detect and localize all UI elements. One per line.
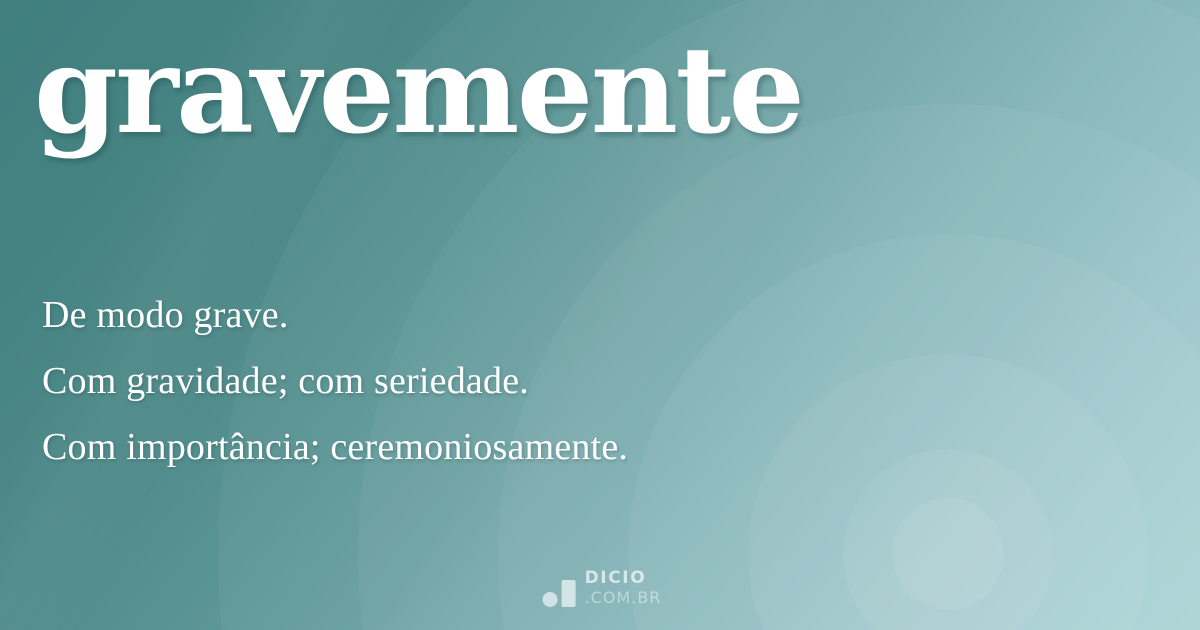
dicio-bar-icon bbox=[562, 580, 576, 607]
definition-line: Com importância; ceremoniosamente. bbox=[42, 414, 1142, 480]
definition-list: De modo grave. Com gravidade; com seried… bbox=[42, 282, 1142, 480]
page-title: gravemente bbox=[34, 18, 802, 164]
dicio-dot-icon bbox=[543, 592, 558, 607]
dicio-logo-name: DICIO bbox=[585, 570, 662, 587]
card-content: gravemente De modo grave. Com gravidade;… bbox=[0, 0, 1200, 630]
definition-card: gravemente De modo grave. Com gravidade;… bbox=[0, 0, 1200, 630]
dicio-logo-mark bbox=[539, 575, 576, 607]
definition-line: Com gravidade; com seriedade. bbox=[42, 348, 1142, 414]
dicio-logo[interactable]: DICIO .COM.BR bbox=[539, 570, 662, 607]
definition-line: De modo grave. bbox=[42, 282, 1142, 348]
dicio-logo-tld: .COM.BR bbox=[585, 590, 662, 606]
dicio-logo-wordmark: DICIO .COM.BR bbox=[585, 570, 662, 607]
